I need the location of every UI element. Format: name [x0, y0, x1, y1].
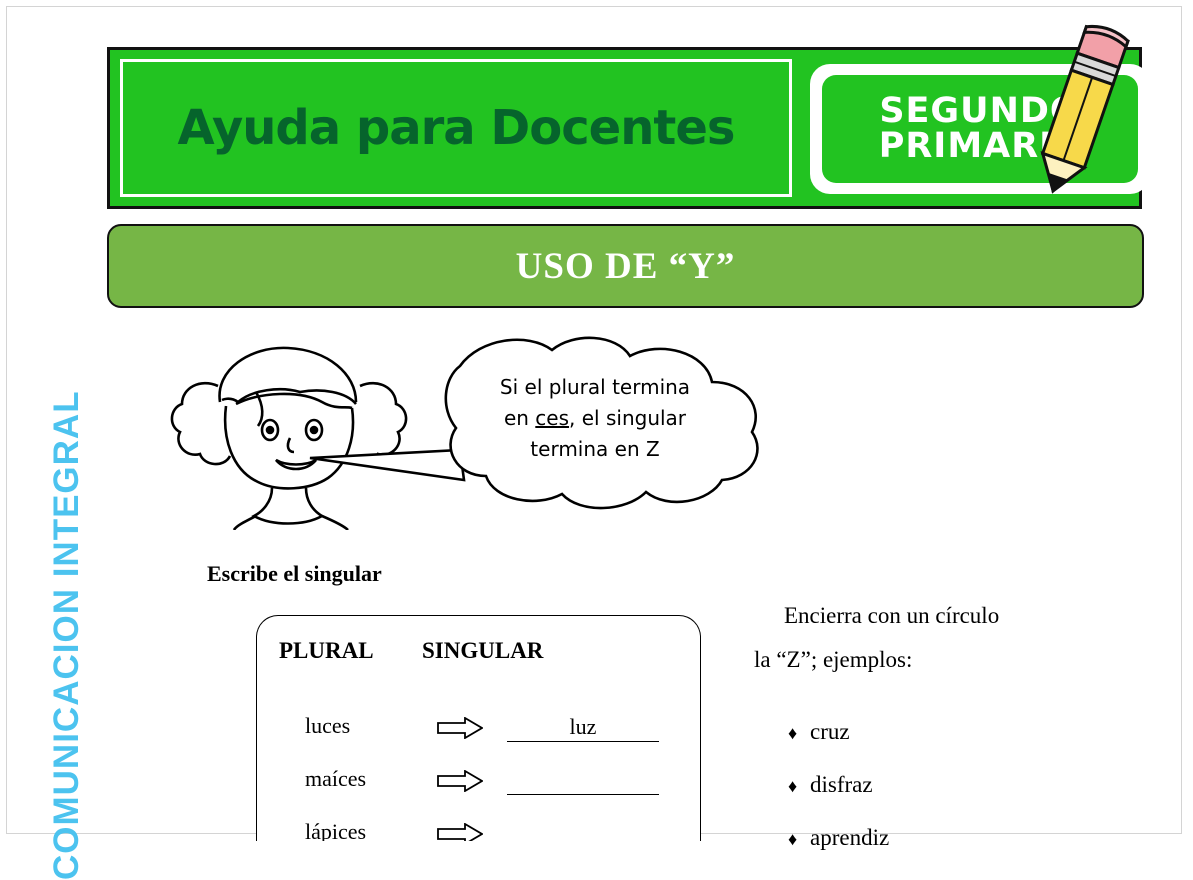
exercise-instruction: Escribe el singular: [207, 561, 382, 587]
example-word[interactable]: aprendiz: [810, 825, 889, 850]
diamond-bullet-icon: ♦: [788, 724, 810, 742]
singular-answer-field[interactable]: [507, 766, 659, 795]
site-title: Ayuda para Docentes: [178, 100, 735, 156]
arrow-right-icon: [437, 770, 483, 792]
banner-title-frame: Ayuda para Docentes: [120, 59, 792, 197]
speech-line-2-suffix: , el singular: [569, 406, 686, 430]
right-instruction-line-2: la “Z”; ejemplos:: [754, 638, 912, 682]
worksheet-page: COMUNICACION INTEGRAL Ayuda para Docente…: [0, 0, 1193, 841]
column-header-plural: PLURAL: [279, 638, 374, 664]
grade-line-2: PRIMARIA: [879, 129, 1082, 164]
speech-line-2-underlined: ces: [535, 406, 569, 430]
table-row: lápices: [257, 819, 700, 841]
right-instruction-line-1: Encierra con un círculo: [784, 603, 999, 628]
singular-answer-field[interactable]: luz: [507, 713, 659, 742]
table-row: luces luz: [257, 713, 700, 766]
example-word[interactable]: disfraz: [810, 772, 873, 797]
list-item: ♦cruz: [788, 720, 1088, 773]
speech-line-3: termina en Z: [530, 437, 659, 461]
right-exercise-instruction: Encierra con un círculo la “Z”; ejemplos…: [754, 594, 1084, 681]
plural-word: lápices: [305, 819, 366, 841]
grade-badge-inner: SEGUNDO PRIMARIA: [822, 75, 1138, 183]
grade-line-1: SEGUNDO: [879, 94, 1080, 129]
example-word[interactable]: cruz: [810, 719, 850, 744]
column-header-singular: SINGULAR: [422, 638, 543, 664]
singular-answer-field[interactable]: [507, 819, 659, 841]
speech-bubble-text: Si el plural termina en ces, el singular…: [470, 372, 720, 465]
diamond-bullet-icon: ♦: [788, 777, 810, 795]
header-banner: Ayuda para Docentes SEGUNDO PRIMARIA: [107, 47, 1142, 209]
table-header-row: PLURAL SINGULAR: [257, 638, 700, 678]
table-row: maíces: [257, 766, 700, 819]
worksheet-title-bar: USO DE “Y”: [107, 224, 1144, 308]
list-item: ♦aprendiz: [788, 826, 1088, 879]
grade-badge: SEGUNDO PRIMARIA: [810, 64, 1150, 194]
plural-word: luces: [305, 713, 350, 739]
arrow-right-icon: [437, 717, 483, 739]
speech-line-2-prefix: en: [504, 406, 535, 430]
subject-vertical-title: COMUNICACION INTEGRAL: [47, 320, 87, 880]
speech-line-1: Si el plural termina: [500, 375, 690, 399]
arrow-right-icon: [437, 823, 483, 841]
diamond-bullet-icon: ♦: [788, 830, 810, 848]
list-item: ♦disfraz: [788, 773, 1088, 826]
singular-plural-table: PLURAL SINGULAR luces luz maíces lápices: [256, 615, 701, 841]
example-word-list: ♦cruz ♦disfraz ♦aprendiz: [788, 720, 1088, 879]
plural-word: maíces: [305, 766, 366, 792]
page-title: USO DE “Y”: [516, 245, 736, 288]
